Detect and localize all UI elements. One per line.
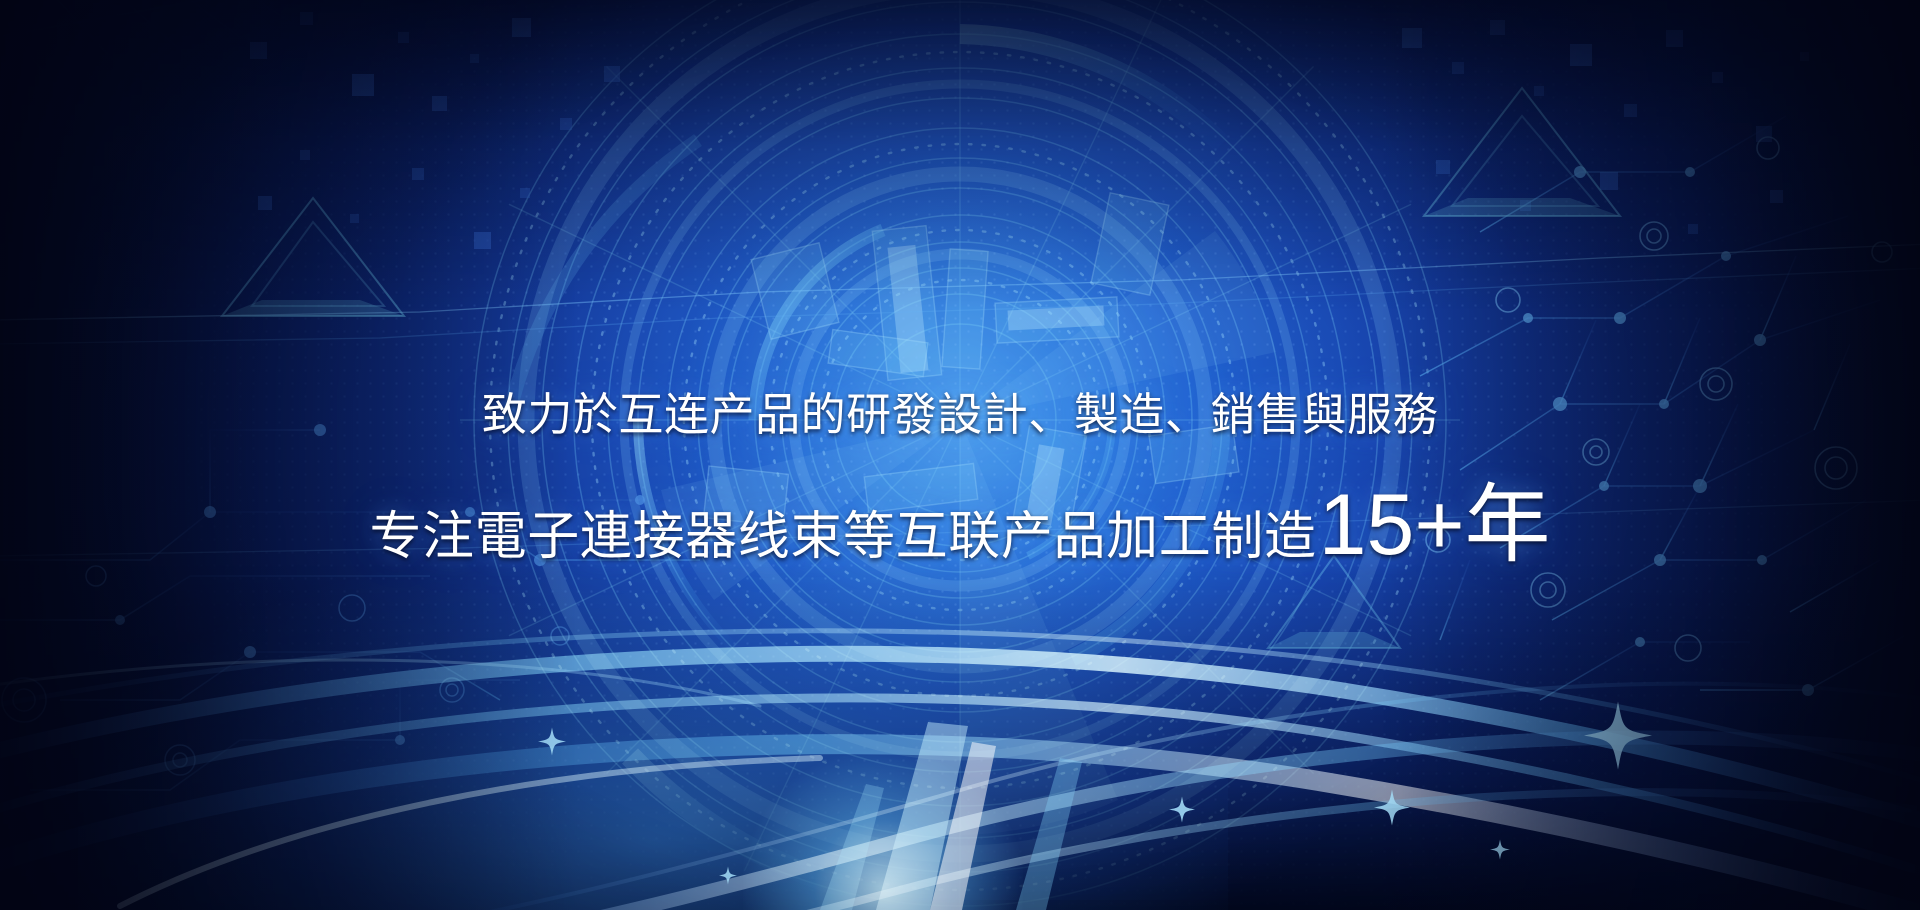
headline-line-2: 专注電子連接器线束等互联产品加工制造 15+年 xyxy=(0,487,1920,564)
headline-line-2-lead: 专注電子連接器线束等互联产品加工制造 xyxy=(369,511,1316,563)
bottom-center-flare xyxy=(743,750,1023,910)
bottom-glow xyxy=(78,560,1228,910)
headline-block: 致力於互连产品的研發設計、製造、銷售與服務 专注電子連接器线束等互联产品加工制造… xyxy=(0,392,1920,564)
headline-line-1: 致力於互连产品的研發設計、製造、銷售與服務 xyxy=(0,392,1920,437)
hero-banner: 致力於互连产品的研發設計、製造、銷售與服務 专注電子連接器线束等互联产品加工制造… xyxy=(0,0,1920,910)
headline-years-highlight: 15+年 xyxy=(1319,487,1551,564)
